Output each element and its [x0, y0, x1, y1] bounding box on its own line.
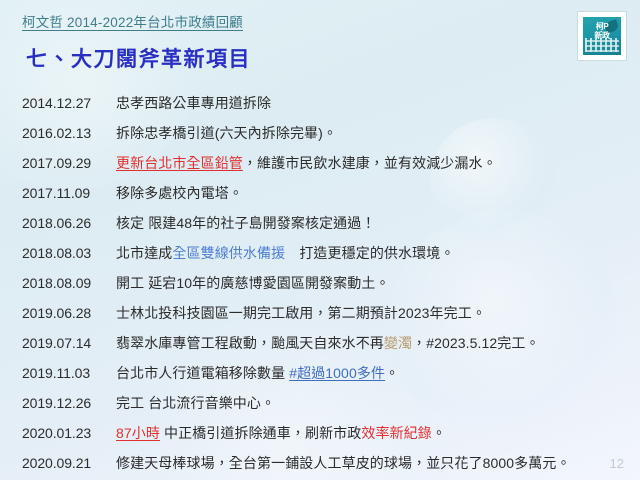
text-segment: 北市達成	[116, 245, 172, 261]
timeline-row: 2019.07.14翡翠水庫專管工程啟動，颱風天自來水不再變濁，#2023.5.…	[0, 328, 640, 358]
highlight-red-segment: 效率新紀錄	[361, 425, 432, 441]
timeline-row-date: 2018.08.03	[22, 238, 116, 268]
timeline-row-description: 核定 限建48年的社子島開發案核定通過！	[116, 208, 640, 238]
highlight-blue-link-segment[interactable]: #超過1000多件	[289, 365, 385, 381]
timeline-row-date: 2019.07.14	[22, 328, 116, 358]
timeline-row-description: 修建天母棒球場，全台第一鋪設人工草皮的球場，並只花了8000多萬元。	[116, 448, 640, 478]
highlight-red-underline-segment[interactable]: 87小時	[116, 425, 160, 441]
text-segment: 開工 延宕10年的廣慈博愛園區開發案動土。	[116, 275, 390, 291]
text-segment: ，維護市民飲水建康，並有效減少漏水。	[243, 155, 497, 171]
timeline-row-description: 完工 台北流行音樂中心。	[116, 388, 640, 418]
timeline-row-date: 2017.11.09	[22, 178, 116, 208]
timeline-row-date: 2019.06.28	[22, 298, 116, 328]
timeline-row-description: 開工 延宕10年的廣慈博愛園區開發案動土。	[116, 268, 640, 298]
timeline-row-description: 台北市人行道電箱移除數量 #超過1000多件。	[116, 358, 640, 388]
page-number: 12	[610, 456, 624, 472]
timeline-row: 2018.08.03北市達成全區雙線供水備援 打造更穩定的供水環境。	[0, 238, 640, 268]
text-segment: 忠孝西路公車專用道拆除	[116, 95, 271, 111]
timeline-list: 2014.12.27忠孝西路公車專用道拆除2016.02.13拆除忠孝橋引道(六…	[0, 88, 640, 478]
timeline-row: 2019.11.03台北市人行道電箱移除數量 #超過1000多件。	[0, 358, 640, 388]
page-title: 七、大刀闊斧革新項目	[26, 46, 251, 74]
text-segment: 核定 限建48年的社子島開發案核定通過！	[116, 215, 375, 231]
timeline-row-date: 2020.09.21	[22, 448, 116, 478]
timeline-row-date: 2018.06.26	[22, 208, 116, 238]
timeline-row-date: 2017.09.29	[22, 148, 116, 178]
text-segment: 拆除忠孝橋引道(六天內拆除完畢)。	[116, 125, 337, 141]
timeline-row-description: 翡翠水庫專管工程啟動，颱風天自來水不再變濁，#2023.5.12完工。	[116, 328, 640, 358]
timeline-row: 2020.09.21修建天母棒球場，全台第一鋪設人工草皮的球場，並只花了8000…	[0, 448, 640, 478]
text-segment: 。	[432, 425, 446, 441]
text-segment: 。	[385, 365, 399, 381]
timeline-row-description: 士林北投科技園區一期完工啟用，第二期預計2023年完工。	[116, 298, 640, 328]
text-segment: 翡翠水庫專管工程啟動，颱風天自來水不再	[116, 335, 384, 351]
timeline-row-date: 2020.01.23	[22, 418, 116, 448]
timeline-row-date: 2019.11.03	[22, 358, 116, 388]
slide-canvas: 柯文哲 2014-2022年台北市政績回顧 七、大刀闊斧革新項目 柯P 新政 2…	[0, 0, 640, 480]
highlight-tan-segment: 變濁	[384, 335, 412, 351]
timeline-row: 2016.02.13拆除忠孝橋引道(六天內拆除完畢)。	[0, 118, 640, 148]
timeline-row-date: 2019.12.26	[22, 388, 116, 418]
timeline-row: 2018.06.26核定 限建48年的社子島開發案核定通過！	[0, 208, 640, 238]
timeline-row-date: 2016.02.13	[22, 118, 116, 148]
timeline-row-description: 移除多處校內電塔。	[116, 178, 640, 208]
timeline-row: 2014.12.27忠孝西路公車專用道拆除	[0, 88, 640, 118]
slide-kicker: 柯文哲 2014-2022年台北市政績回顧	[22, 14, 243, 32]
logo-line-1: 柯P	[583, 22, 621, 31]
timeline-row-description: 忠孝西路公車專用道拆除	[116, 88, 640, 118]
text-segment: ，#2023.5.12完工。	[412, 335, 539, 351]
text-segment: 修建天母棒球場，全台第一鋪設人工草皮的球場，並只花了8000多萬元。	[116, 455, 571, 471]
text-segment: 完工 台北流行音樂中心。	[116, 395, 275, 411]
text-segment: 移除多處校內電塔。	[116, 185, 243, 201]
text-segment: 台北市人行道電箱移除數量	[116, 365, 289, 381]
logo-badge: 柯P 新政	[578, 12, 626, 60]
timeline-row: 2017.09.29更新台北市全區鉛管，維護市民飲水建康，並有效減少漏水。	[0, 148, 640, 178]
highlight-red-underline-segment[interactable]: 更新台北市全區鉛管	[116, 155, 243, 171]
timeline-row: 2020.01.2387小時 中正橋引道拆除通車，刷新市政效率新紀錄。	[0, 418, 640, 448]
timeline-row-description: 拆除忠孝橋引道(六天內拆除完畢)。	[116, 118, 640, 148]
timeline-row-description: 北市達成全區雙線供水備援 打造更穩定的供水環境。	[116, 238, 640, 268]
timeline-row-date: 2014.12.27	[22, 88, 116, 118]
timeline-row-date: 2018.08.09	[22, 268, 116, 298]
logo-keyboard-icon	[585, 38, 619, 52]
logo-icon: 柯P 新政	[583, 17, 621, 55]
timeline-row: 2018.08.09開工 延宕10年的廣慈博愛園區開發案動土。	[0, 268, 640, 298]
highlight-blue-segment: 全區雙線供水備援	[172, 245, 285, 261]
timeline-row: 2017.11.09移除多處校內電塔。	[0, 178, 640, 208]
timeline-row: 2019.12.26完工 台北流行音樂中心。	[0, 388, 640, 418]
timeline-row: 2019.06.28士林北投科技園區一期完工啟用，第二期預計2023年完工。	[0, 298, 640, 328]
text-segment: 中正橋引道拆除通車，刷新市政	[160, 425, 361, 441]
text-segment: 打造更穩定的供水環境。	[285, 245, 454, 261]
text-segment: 士林北投科技園區一期完工啟用，第二期預計2023年完工。	[116, 305, 486, 321]
timeline-row-description: 87小時 中正橋引道拆除通車，刷新市政效率新紀錄。	[116, 418, 640, 448]
timeline-row-description: 更新台北市全區鉛管，維護市民飲水建康，並有效減少漏水。	[116, 148, 640, 178]
